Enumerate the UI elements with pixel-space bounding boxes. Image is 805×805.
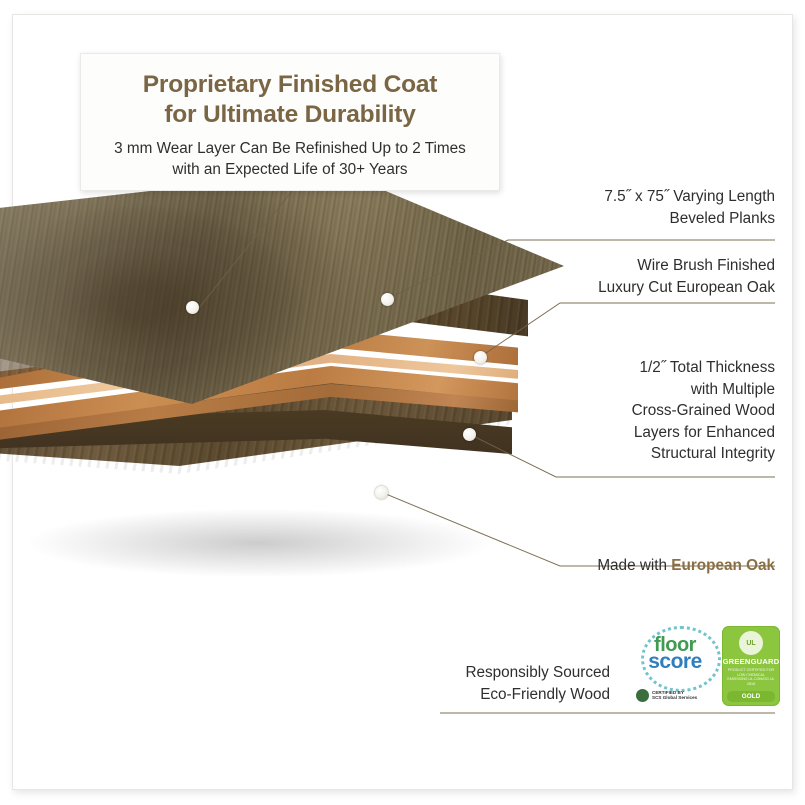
callout-dot-wirebrush[interactable] <box>474 351 487 364</box>
annotation-thickness-line2: with Multiple <box>691 381 775 398</box>
annotation-wire-brush-line2: Luxury Cut European Oak <box>598 279 775 296</box>
greenguard-name: GREENGUARD <box>722 657 780 666</box>
scs-org: SCS Global Services <box>652 695 697 700</box>
callout-body: 3 mm Wear Layer Can Be Refinished Up to … <box>95 138 485 180</box>
callout-dot-planks[interactable] <box>381 293 394 306</box>
callout-dot-material[interactable] <box>375 486 388 499</box>
callout-heading-line2: for Ultimate Durability <box>164 101 415 128</box>
eco-line2: Eco-Friendly Wood <box>480 686 610 703</box>
greenguard-gold-logo: UL GREENGUARD PRODUCT CERTIFIED FOR LOW … <box>722 626 780 706</box>
eco-line1: Responsibly Sourced <box>465 664 610 681</box>
annotation-thickness: 1/2˝ Total Thickness with Multiple Cross… <box>505 357 775 465</box>
annotation-thickness-line5: Structural Integrity <box>651 445 775 462</box>
annotation-eco-friendly: Responsibly Sourced Eco-Friendly Wood <box>395 662 610 706</box>
ul-shield-icon: UL <box>739 631 763 655</box>
callout-box-finished-coat: Proprietary Finished Coat for Ultimate D… <box>80 53 500 191</box>
annotation-planks-line2: Beveled Planks <box>670 210 775 227</box>
annotation-planks: 7.5˝ x 75˝ Varying Length Beveled Planks <box>505 186 775 229</box>
annotation-material-prefix: Made with <box>597 557 671 574</box>
greenguard-subtext: PRODUCT CERTIFIED FOR LOW CHEMICAL EMISS… <box>727 668 775 686</box>
floorscore-logo: floor score CERTIFIED BY SCS Global Serv… <box>628 624 720 706</box>
annotation-wire-brush: Wire Brush Finished Luxury Cut European … <box>505 255 775 298</box>
scs-leaf-icon <box>636 689 649 702</box>
callout-dot-thickness[interactable] <box>463 428 476 441</box>
annotation-thickness-line1: 1/2˝ Total Thickness <box>640 359 775 376</box>
annotation-material: Made with European Oak <box>505 555 775 577</box>
scs-certified-by: CERTIFIED BY <box>652 690 684 695</box>
annotation-wire-brush-line1: Wire Brush Finished <box>637 257 775 274</box>
callout-body-line1: 3 mm Wear Layer Can Be Refinished Up to … <box>114 140 466 157</box>
greenguard-level-badge: GOLD <box>727 691 775 702</box>
floorscore-word-score: score <box>638 652 712 672</box>
infographic-canvas: Proprietary Finished Coat for Ultimate D… <box>0 0 805 805</box>
scs-global-services-mark: CERTIFIED BY SCS Global Services <box>636 688 722 702</box>
callout-heading: Proprietary Finished Coat for Ultimate D… <box>95 70 485 130</box>
annotation-thickness-line3: Cross-Grained Wood <box>632 402 775 419</box>
annotation-thickness-line4: Layers for Enhanced <box>634 424 775 441</box>
scs-text: CERTIFIED BY SCS Global Services <box>652 690 697 701</box>
callout-body-line2: with an Expected Life of 30+ Years <box>172 161 407 178</box>
callout-dot-finish[interactable] <box>186 301 199 314</box>
ul-mark: UL <box>746 640 755 647</box>
annotation-material-emphasis: European Oak <box>671 557 775 574</box>
annotation-planks-line1: 7.5˝ x 75˝ Varying Length <box>604 188 775 205</box>
drop-shadow <box>24 508 494 578</box>
callout-heading-line1: Proprietary Finished Coat <box>143 71 438 98</box>
